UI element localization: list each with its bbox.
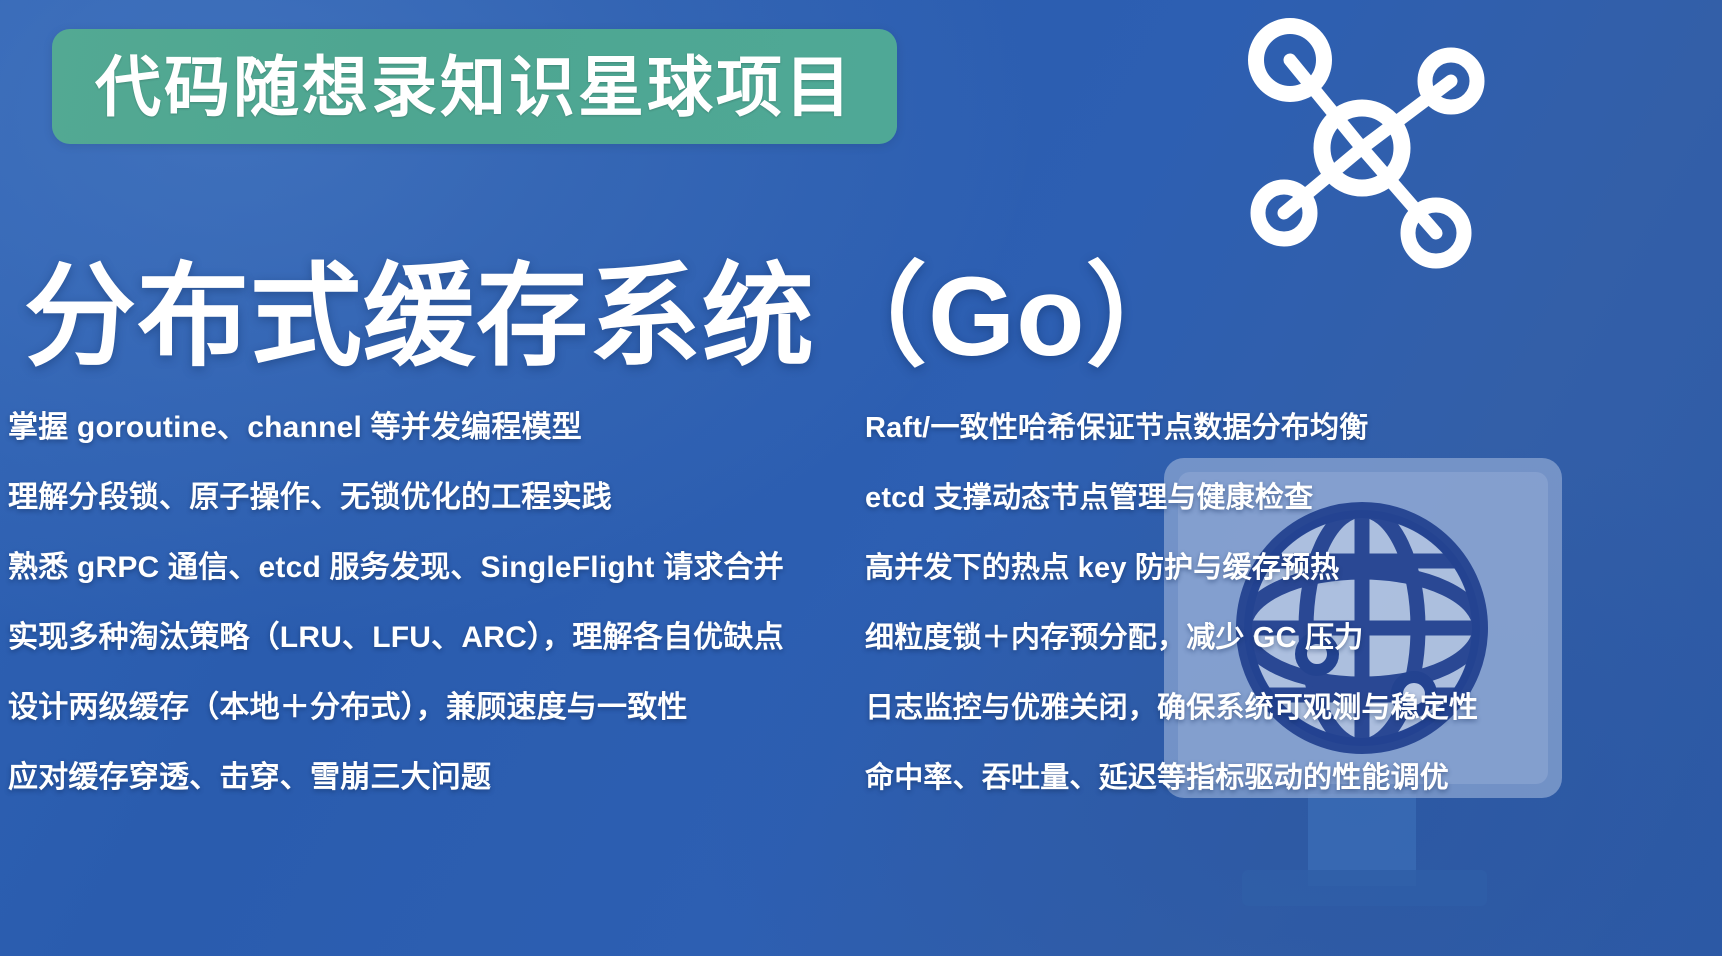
feature-item: 应对缓存穿透、击穿、雪崩三大问题 <box>8 743 855 813</box>
feature-item: 命中率、吞吐量、延迟等指标驱动的性能调优 <box>865 743 1722 813</box>
feature-column-right: Raft/一致性哈希保证节点数据分布均衡 etcd 支撑动态节点管理与健康检查 … <box>855 393 1722 863</box>
network-nodes-icon <box>1212 0 1512 298</box>
feature-column-left: 掌握 goroutine、channel 等并发编程模型 理解分段锁、原子操作、… <box>0 393 855 863</box>
feature-item: 高并发下的热点 key 防护与缓存预热 <box>865 533 1722 603</box>
page-title: 分布式缓存系统（Go） <box>24 251 1199 383</box>
project-badge: 代码随想录知识星球项目 <box>52 29 897 144</box>
feature-item: 实现多种淘汰策略（LRU、LFU、ARC），理解各自优缺点 <box>8 603 855 673</box>
feature-item: 细粒度锁＋内存预分配，减少 GC 压力 <box>865 603 1722 673</box>
feature-item: 设计两级缓存（本地＋分布式），兼顾速度与一致性 <box>8 673 855 743</box>
promo-banner: 代码随想录知识星球项目 分布式缓存系统（Go） 掌握 goroutine、cha… <box>0 0 1722 956</box>
feature-item: 掌握 goroutine、channel 等并发编程模型 <box>8 393 855 463</box>
feature-item: 日志监控与优雅关闭，确保系统可观测与稳定性 <box>865 673 1722 743</box>
feature-item: etcd 支撑动态节点管理与健康检查 <box>865 463 1722 533</box>
feature-columns: 掌握 goroutine、channel 等并发编程模型 理解分段锁、原子操作、… <box>0 393 1722 863</box>
project-badge-label: 代码随想录知识星球项目 <box>95 54 854 120</box>
feature-item: Raft/一致性哈希保证节点数据分布均衡 <box>865 393 1722 463</box>
feature-item: 理解分段锁、原子操作、无锁优化的工程实践 <box>8 463 855 533</box>
feature-item: 熟悉 gRPC 通信、etcd 服务发现、SingleFlight 请求合并 <box>8 533 855 603</box>
